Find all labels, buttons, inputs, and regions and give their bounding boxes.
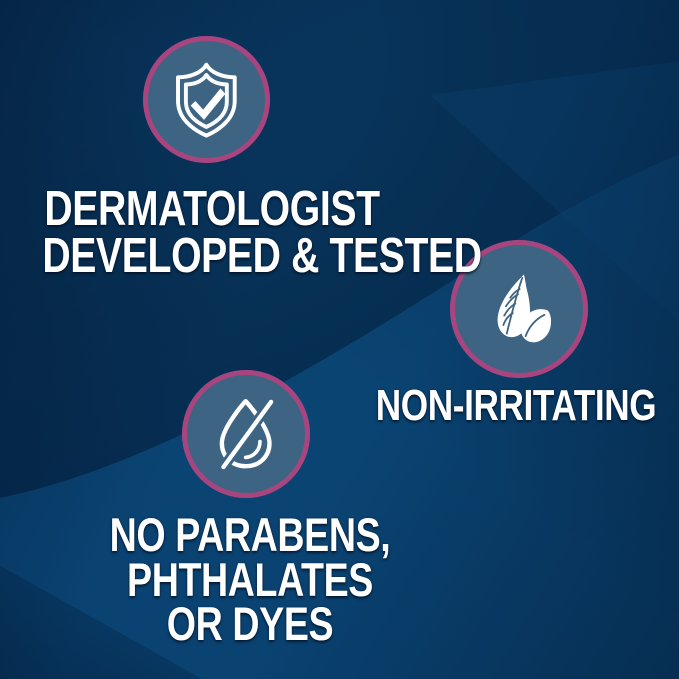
claim-line: DEVELOPED & TESTED <box>42 233 381 280</box>
benefits-infographic: DERMATOLOGIST DEVELOPED & TESTED NON-IRR… <box>0 0 679 679</box>
claim-non-irritating: NON-IRRITATING <box>366 385 667 427</box>
claim-dermatologist: DERMATOLOGIST DEVELOPED & TESTED <box>42 186 381 279</box>
claim-line: NO PARABENS, <box>100 513 401 558</box>
claim-line: OR DYES <box>100 602 401 647</box>
shield-check-icon <box>167 60 246 139</box>
feathers-icon <box>476 266 562 352</box>
claim-no-parabens: NO PARABENS, PHTHALATES OR DYES <box>100 513 401 647</box>
claim-line: DERMATOLOGIST <box>42 186 381 233</box>
claim-line: NON-IRRITATING <box>366 385 667 427</box>
no-droplet-icon <box>206 394 285 473</box>
claim-line: PHTHALATES <box>100 558 401 603</box>
badge-no-parabens <box>182 370 310 498</box>
badge-dermatologist <box>143 36 270 163</box>
